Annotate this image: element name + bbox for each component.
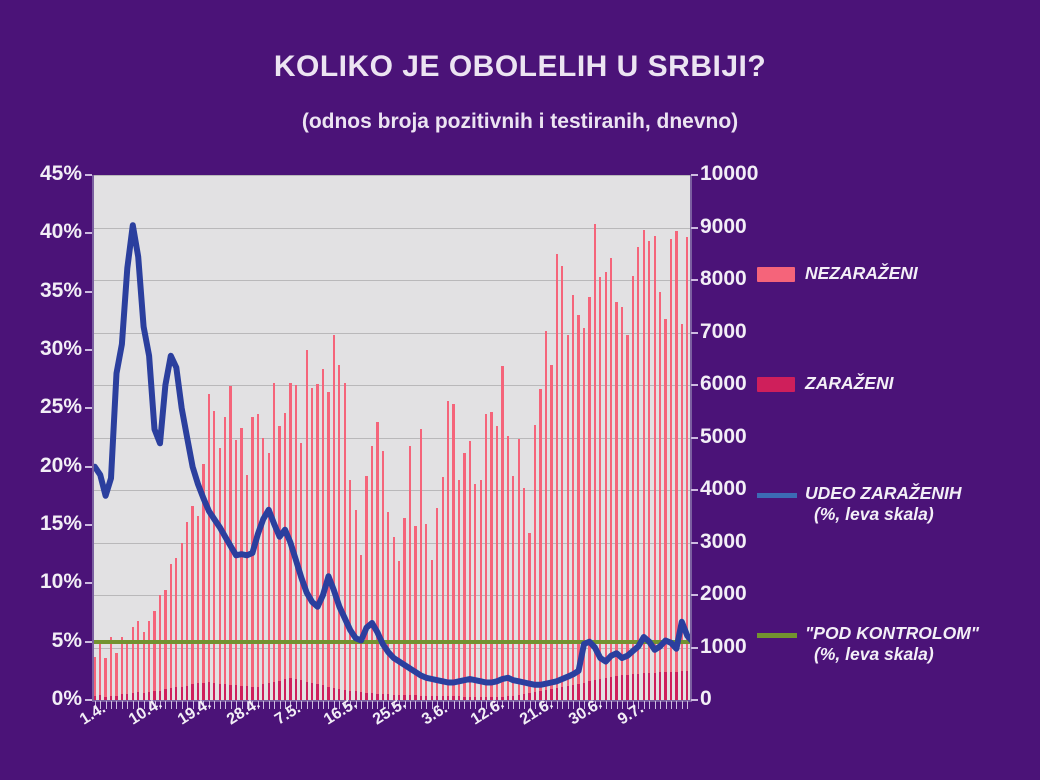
x-tick bbox=[127, 701, 128, 709]
x-tick bbox=[312, 701, 313, 709]
x-tick bbox=[519, 701, 520, 709]
x-tick bbox=[415, 701, 416, 709]
x-tick bbox=[671, 701, 672, 709]
x-tick bbox=[606, 701, 607, 709]
y-tick-left bbox=[85, 291, 92, 293]
y-tick-left bbox=[85, 524, 92, 526]
x-tick bbox=[655, 701, 656, 709]
x-tick bbox=[687, 701, 688, 709]
y-tick-label-left: 5% bbox=[0, 629, 82, 653]
x-tick bbox=[372, 701, 373, 709]
y-axis-right bbox=[690, 175, 692, 702]
y-tick-left bbox=[85, 232, 92, 234]
x-tick bbox=[649, 701, 650, 709]
y-tick-left bbox=[85, 466, 92, 468]
x-tick bbox=[116, 701, 117, 709]
y-tick-label-left: 40% bbox=[0, 220, 82, 244]
x-tick bbox=[318, 701, 319, 709]
x-tick bbox=[513, 701, 514, 709]
y-tick-left bbox=[85, 407, 92, 409]
legend-swatch-line-icon bbox=[757, 633, 797, 638]
x-tick bbox=[470, 701, 471, 709]
x-tick bbox=[225, 701, 226, 709]
x-tick bbox=[214, 701, 215, 709]
legend-swatch-line-icon bbox=[757, 493, 797, 498]
y-tick-label-left: 30% bbox=[0, 337, 82, 361]
x-tick bbox=[644, 701, 645, 709]
x-tick bbox=[508, 701, 509, 709]
y-tick-label-left: 15% bbox=[0, 512, 82, 536]
x-tick bbox=[666, 701, 667, 709]
legend-label: "POD KONTROLOM"(%, leva skala) bbox=[805, 623, 979, 665]
x-tick bbox=[171, 701, 172, 709]
x-tick bbox=[562, 701, 563, 709]
x-tick bbox=[617, 701, 618, 709]
x-tick-label: 7.5. bbox=[272, 700, 304, 729]
x-tick bbox=[410, 701, 411, 709]
x-tick bbox=[660, 701, 661, 709]
chart-title: KOLIKO JE OBOLELIH U SRBIJI? bbox=[0, 50, 1040, 84]
legend-label: UDEO ZARAŽENIH(%, leva skala) bbox=[805, 483, 962, 525]
y-tick-label-left: 10% bbox=[0, 570, 82, 594]
x-tick bbox=[367, 701, 368, 709]
x-tick bbox=[361, 701, 362, 709]
y-tick-right bbox=[691, 542, 698, 544]
y-tick-label-left: 25% bbox=[0, 395, 82, 419]
x-tick bbox=[220, 701, 221, 709]
x-tick bbox=[263, 701, 264, 709]
legend-label: NEZARAŽENI bbox=[805, 263, 918, 284]
x-tick bbox=[122, 701, 123, 709]
y-tick-right bbox=[691, 227, 698, 229]
legend-sublabel: (%, leva skala) bbox=[805, 504, 962, 525]
x-tick bbox=[611, 701, 612, 709]
y-tick-label-left: 20% bbox=[0, 454, 82, 478]
x-tick bbox=[464, 701, 465, 709]
y-tick-left bbox=[85, 174, 92, 176]
y-tick-right bbox=[691, 699, 698, 701]
x-tick bbox=[568, 701, 569, 709]
x-tick bbox=[176, 701, 177, 709]
chart-subtitle: (odnos broja pozitivnih i testiranih, dn… bbox=[0, 110, 1040, 134]
y-tick-right bbox=[691, 279, 698, 281]
x-tick bbox=[421, 701, 422, 709]
y-tick-label-left: 0% bbox=[0, 687, 82, 711]
y-tick-right bbox=[691, 174, 698, 176]
x-tick bbox=[323, 701, 324, 709]
chart-canvas: KOLIKO JE OBOLELIH U SRBIJI? (odnos broj… bbox=[0, 0, 1040, 780]
y-tick-right bbox=[691, 384, 698, 386]
x-tick bbox=[448, 701, 449, 709]
y-tick-left bbox=[85, 641, 92, 643]
legend: NEZARAŽENIZARAŽENIUDEO ZARAŽENIH(%, leva… bbox=[757, 175, 1037, 700]
x-tick-label: 9.7. bbox=[615, 700, 647, 729]
legend-swatch-bar-icon bbox=[757, 267, 795, 282]
y-tick-left bbox=[85, 699, 92, 701]
x-tick bbox=[557, 701, 558, 709]
y-tick-right bbox=[691, 489, 698, 491]
y-tick-left bbox=[85, 582, 92, 584]
x-tick bbox=[459, 701, 460, 709]
y-axis-left bbox=[92, 175, 94, 702]
legend-swatch-bar-icon bbox=[757, 377, 795, 392]
plot-area bbox=[92, 175, 690, 700]
legend-sublabel: (%, leva skala) bbox=[805, 644, 979, 665]
y-tick-right bbox=[691, 332, 698, 334]
y-tick-right bbox=[691, 647, 698, 649]
y-tick-left bbox=[85, 349, 92, 351]
line-udeo-zarazenih bbox=[95, 225, 690, 685]
x-tick bbox=[454, 701, 455, 709]
x-tick bbox=[269, 701, 270, 709]
x-tick bbox=[682, 701, 683, 709]
x-tick bbox=[274, 701, 275, 709]
x-tick bbox=[301, 701, 302, 709]
x-tick bbox=[106, 701, 107, 709]
legend-label: ZARAŽENI bbox=[805, 373, 893, 394]
y-tick-right bbox=[691, 437, 698, 439]
x-tick-label: 3.6. bbox=[419, 700, 451, 729]
x-tick bbox=[111, 701, 112, 709]
y-tick-label-left: 45% bbox=[0, 162, 82, 186]
y-tick-right bbox=[691, 594, 698, 596]
y-tick-label-left: 35% bbox=[0, 279, 82, 303]
x-tick bbox=[676, 701, 677, 709]
udeo-zarazenih-line bbox=[92, 175, 690, 700]
x-tick bbox=[307, 701, 308, 709]
x-tick bbox=[165, 701, 166, 709]
